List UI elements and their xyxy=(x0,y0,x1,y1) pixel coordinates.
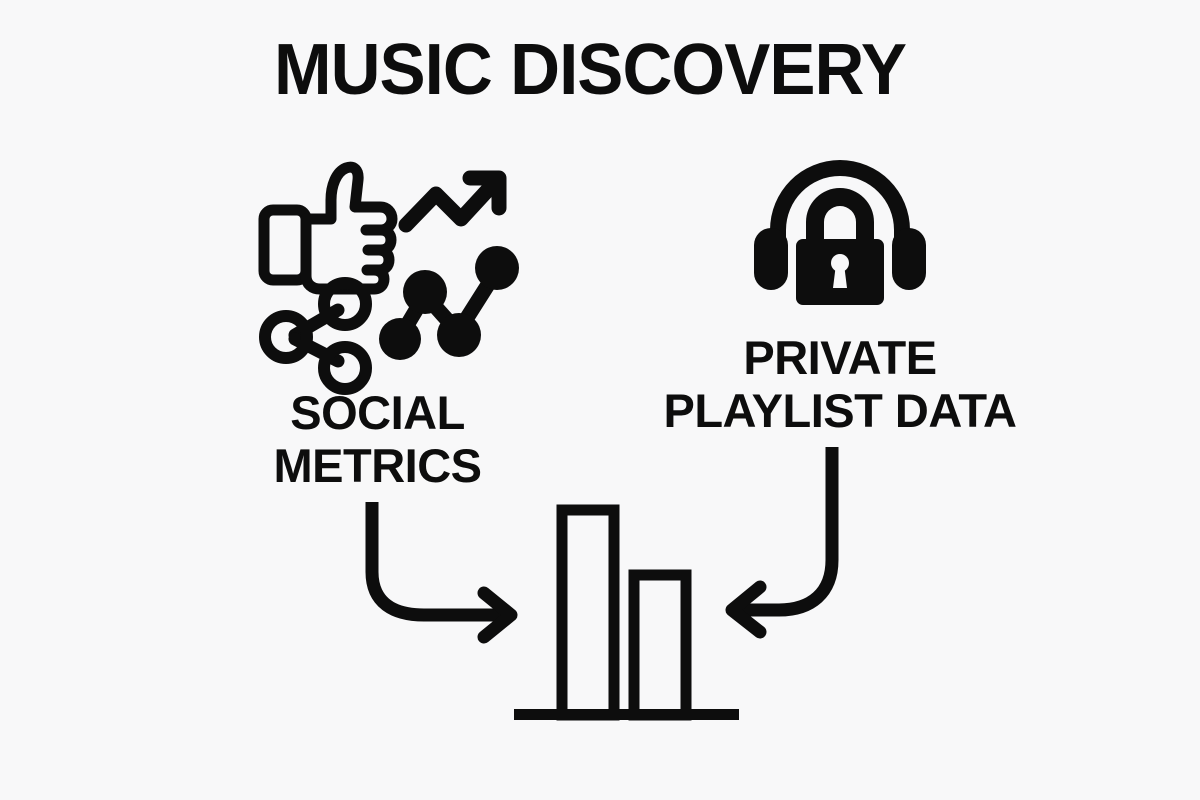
social-metrics-label-line-2: METRICS xyxy=(175,439,580,492)
page-title: MUSIC DISCOVERY xyxy=(24,34,1157,106)
share-network-icon xyxy=(265,283,366,389)
bar-chart-icon xyxy=(514,510,739,720)
curved-arrow-left-icon xyxy=(732,447,832,632)
private-playlist-data-label-line-1: PRIVATE xyxy=(638,331,1042,384)
curved-arrow-left-icon-wrap xyxy=(715,435,855,630)
bar-chart-tall-bar xyxy=(562,510,614,715)
headphones-lock-icon-wrap xyxy=(748,160,933,310)
bar-chart-short-bar xyxy=(634,575,686,715)
private-playlist-data-label: PRIVATE PLAYLIST DATA xyxy=(638,331,1042,437)
infographic-canvas: MUSIC DISCOVERY xyxy=(0,0,1200,800)
social-metrics-icon-cluster xyxy=(258,162,513,377)
private-playlist-data-label-line-2: PLAYLIST DATA xyxy=(638,384,1042,437)
headphones-lock-icon xyxy=(754,160,926,305)
social-metrics-label: SOCIAL METRICS xyxy=(175,386,580,492)
thumbs-up-icon xyxy=(264,167,392,289)
bar-chart-baseline xyxy=(514,709,739,720)
curved-arrow-right-icon xyxy=(372,502,511,637)
social-metrics-label-line-1: SOCIAL xyxy=(175,386,580,439)
trending-up-arrow-icon xyxy=(406,178,499,225)
bar-chart-icon-wrap xyxy=(505,495,750,725)
line-chart-dots-icon xyxy=(379,246,519,360)
